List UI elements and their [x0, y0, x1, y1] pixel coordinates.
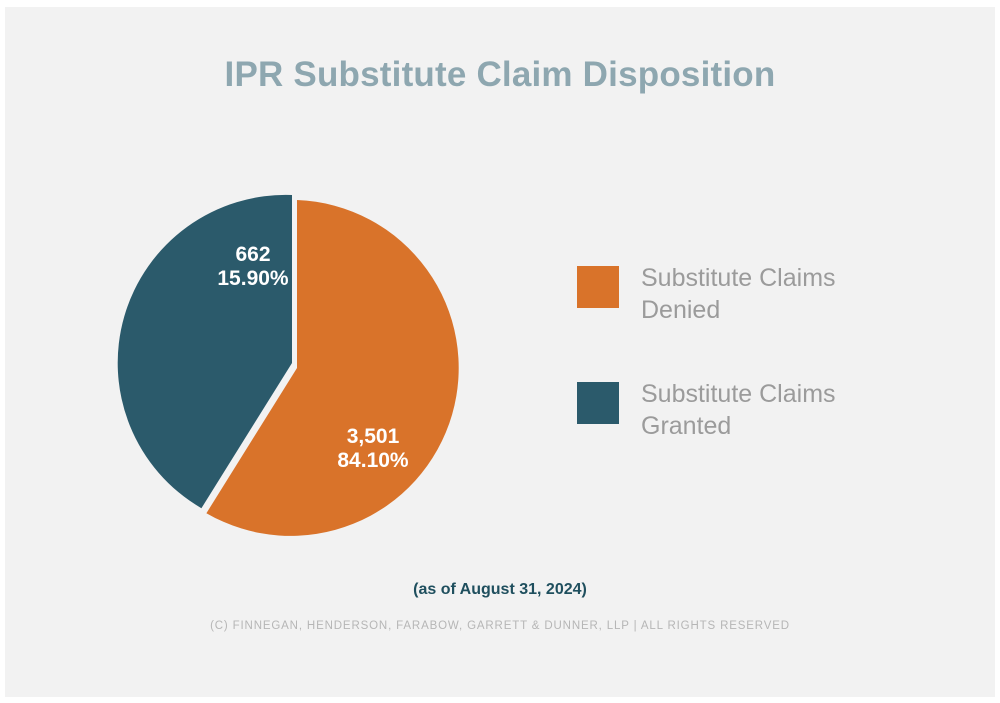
legend-item-granted[interactable]: Substitute Claims Granted	[577, 378, 907, 442]
legend-swatch-granted	[577, 382, 619, 424]
page-title: IPR Substitute Claim Disposition	[5, 55, 995, 95]
legend-item-denied[interactable]: Substitute Claims Denied	[577, 262, 907, 326]
chart-legend: Substitute Claims Denied Substitute Clai…	[577, 262, 907, 494]
chart-subtitle: (as of August 31, 2024)	[5, 581, 995, 599]
pie-chart-svg	[115, 187, 490, 562]
legend-label-granted: Substitute Claims Granted	[641, 378, 891, 442]
copyright-notice: (C) FINNEGAN, HENDERSON, FARABOW, GARRET…	[5, 620, 995, 632]
slide-canvas: IPR Substitute Claim Disposition 662 15.…	[5, 7, 995, 697]
legend-swatch-denied	[577, 266, 619, 308]
pie-chart: 662 15.90% 3,501 84.10%	[115, 187, 490, 562]
legend-label-denied: Substitute Claims Denied	[641, 262, 891, 326]
